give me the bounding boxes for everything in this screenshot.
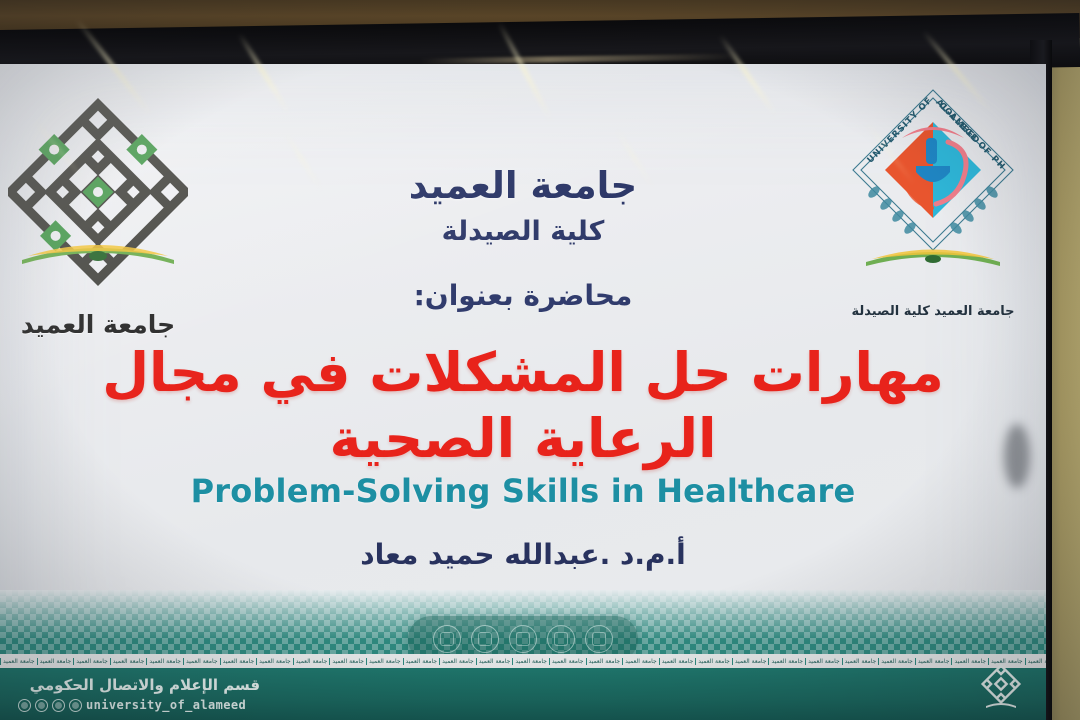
instagram-icon	[471, 625, 499, 653]
photo-scene: جامعة العميد	[0, 0, 1080, 720]
watermark-tag: جامعة العميد	[366, 658, 403, 665]
logo-left-caption: جامعة العميد	[6, 310, 190, 339]
watermark-tag: جامعة العميد	[256, 658, 293, 665]
watermark-tag: جامعة العميد	[768, 658, 805, 665]
slide-footer: جامعة العميدجامعة العميدجامعة العميدجامع…	[0, 590, 1046, 720]
youtube-icon	[585, 625, 613, 653]
social-handle: university_of_alameed	[86, 698, 246, 712]
watermark-tag: جامعة العميد	[73, 658, 110, 665]
watermark-tag: جامعة العميد	[549, 658, 586, 665]
watermark-tag: جامعة العميد	[805, 658, 842, 665]
x-icon	[509, 625, 537, 653]
department-name: قسم الإعلام والاتصال الحكومي	[18, 676, 260, 694]
watermark-tag: جامعة العميد	[403, 658, 440, 665]
screen-smudge	[1004, 424, 1030, 488]
watermark-tag: جامعة العميد	[586, 658, 623, 665]
watermark-tag: جامعة العميد	[476, 658, 513, 665]
lecture-title-en: Problem-Solving Skills in Healthcare	[0, 472, 1046, 510]
telegram-icon	[52, 699, 65, 712]
watermark-tag: جامعة العميد	[915, 658, 952, 665]
watermark-tag: جامعة العميد	[842, 658, 879, 665]
lecture-label: محاضرة بعنوان:	[0, 279, 1046, 312]
watermark-tag: جامعة العميد	[439, 658, 476, 665]
university-name: جامعة العميد	[0, 164, 1046, 207]
department-branding: قسم الإعلام والاتصال الحكومي university_…	[18, 676, 260, 712]
telegram-icon	[547, 625, 575, 653]
watermark-tag: جامعة العميد	[183, 658, 220, 665]
lecture-title-ar: مهارات حل المشكلات في مجال الرعاية الصحي…	[0, 340, 1046, 472]
watermark-tag: جامعة العميد	[329, 658, 366, 665]
youtube-icon	[69, 699, 82, 712]
watermark-tag: جامعة العميد	[732, 658, 769, 665]
facebook-icon	[18, 699, 31, 712]
watermark-tag: جامعة العميد	[110, 658, 147, 665]
watermark-tag: جامعة العميد	[293, 658, 330, 665]
instagram-icon	[35, 699, 48, 712]
college-name: كلية الصيدلة	[0, 216, 1046, 247]
watermark-tag: جامعة العميد	[878, 658, 915, 665]
facebook-icon	[433, 625, 461, 653]
al-ameed-monogram-icon	[978, 662, 1024, 714]
watermark-tag: جامعة العميد	[659, 658, 696, 665]
watermark-tag: جامعة العميد	[0, 658, 37, 665]
handle-row: university_of_alameed	[18, 698, 246, 712]
watermark-tag: جامعة العميد	[622, 658, 659, 665]
watermark-tag: جامعة العميد	[1025, 658, 1046, 665]
watermark-tag: جامعة العميد	[37, 658, 74, 665]
watermark-tag: جامعة العميد	[695, 658, 732, 665]
projected-slide: جامعة العميد	[0, 64, 1046, 720]
wall-right-of-screen	[1048, 38, 1080, 720]
watermark-tag: جامعة العميد	[146, 658, 183, 665]
presenter-name: أ.م.د .عبدالله حميد معاد	[0, 538, 1046, 571]
watermark-tag: جامعة العميد	[512, 658, 549, 665]
watermark-tag: جامعة العميد	[220, 658, 257, 665]
watermark-strip: جامعة العميدجامعة العميدجامعة العميدجامع…	[0, 654, 1046, 668]
